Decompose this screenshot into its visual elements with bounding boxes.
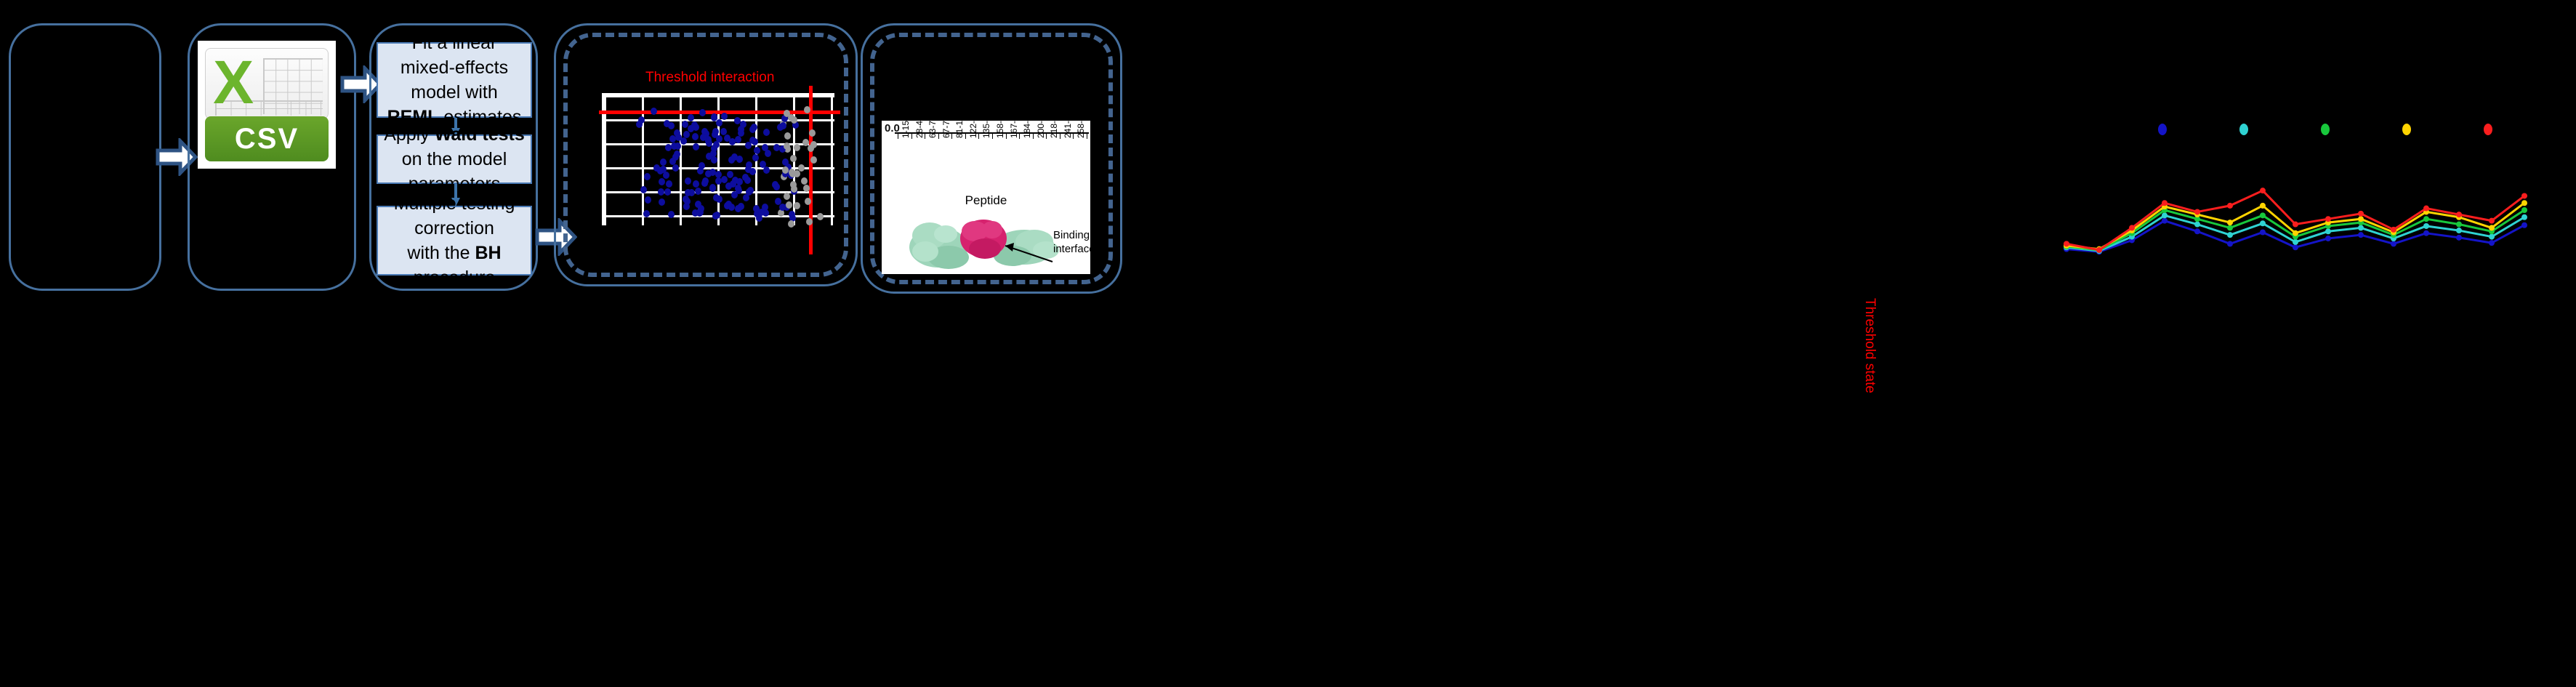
peptide-axis-tick <box>951 134 952 139</box>
line-series-marker <box>2521 193 2527 198</box>
legend-marker <box>2158 124 2167 135</box>
peptide-axis-tick <box>1073 134 1074 139</box>
line-series-marker <box>2358 232 2364 238</box>
peptide-tick-label: 241-257 <box>1063 121 1073 138</box>
binding-interface-line1: Binding <box>1053 229 1090 241</box>
line-series-marker <box>2227 220 2233 225</box>
line-series-marker <box>2489 240 2495 246</box>
peptide-axis-tick <box>911 134 912 139</box>
peptide-tick-label: 184-199 <box>1022 121 1032 138</box>
peptide-tick-label: 258-266 <box>1076 121 1086 138</box>
volcano-point <box>738 203 744 210</box>
legend-marker <box>2321 124 2330 135</box>
legend-marker <box>2402 124 2411 135</box>
volcano-point <box>753 205 760 212</box>
line-series-marker <box>2325 236 2331 241</box>
volcano-point <box>794 202 800 209</box>
volcano-point <box>711 145 717 152</box>
line-series-marker <box>2489 234 2495 240</box>
volcano-point <box>745 166 752 173</box>
line-series-marker <box>2423 216 2429 222</box>
line-series-marker <box>2358 216 2364 222</box>
peptide-tick-label: 63-73 <box>927 121 938 138</box>
line-series-marker <box>2194 228 2200 234</box>
volcano-point <box>817 213 824 220</box>
peptide-axis-tick <box>1006 134 1007 139</box>
binding-interface-line2: interface <box>1053 243 1090 255</box>
peptide-tick-label: 81-101 <box>954 121 965 138</box>
line-series-marker <box>2423 230 2429 236</box>
peptide-tick-label: 122-129 <box>968 121 978 138</box>
peptide-axis-tick <box>925 134 925 139</box>
volcano-point <box>746 188 752 196</box>
line-series-marker <box>2194 222 2200 228</box>
line-series-marker <box>2260 230 2266 236</box>
volcano-point <box>752 154 759 161</box>
step-1-text: Fit a linear mixed-effects model with RE… <box>384 31 525 129</box>
volcano-point <box>780 122 786 129</box>
volcano-point <box>666 180 672 188</box>
volcano-point <box>709 184 716 191</box>
line-series-marker <box>2423 206 2429 212</box>
protein-chain-left <box>909 222 969 269</box>
line-series-marker <box>2325 228 2331 234</box>
line-series-marker <box>2325 216 2331 222</box>
legend-marker <box>2239 124 2248 135</box>
protein-complex-surface-image <box>903 206 1062 273</box>
volcano-point <box>695 188 701 195</box>
peptide-axis-title: Peptide <box>882 193 1090 208</box>
volcano-point <box>805 198 811 205</box>
volcano-point <box>772 181 778 188</box>
peptide-axis-tick <box>1060 134 1060 139</box>
volcano-point <box>788 220 794 228</box>
line-series-marker <box>2162 212 2168 218</box>
line-series-marker <box>2260 220 2266 226</box>
line-series-marker <box>2456 228 2462 233</box>
line-series-marker <box>2521 214 2527 220</box>
volcano-point <box>801 177 808 185</box>
line-series-marker <box>2129 225 2135 230</box>
volcano-point <box>720 128 727 135</box>
peptide-tick-label: 277-284 <box>1090 121 1090 138</box>
volcano-point <box>744 177 751 184</box>
csv-file-icon: X CSV <box>198 41 336 169</box>
excel-x-glyph: X <box>213 52 254 113</box>
volcano-point <box>659 198 665 206</box>
volcano-point <box>790 181 797 188</box>
volcano-point <box>712 128 719 135</box>
peptide-figure-panel: 0.0 1-1528-4463-7367-7581-101122-129135-… <box>882 121 1090 274</box>
line-series-marker <box>2521 222 2527 228</box>
input-stage-panel <box>9 23 161 291</box>
line-series-marker <box>2064 241 2069 246</box>
line-series-marker <box>2456 212 2462 217</box>
peptide-axis-tick <box>965 134 966 139</box>
volcano-point <box>740 121 746 128</box>
peptide-axis-tick <box>898 134 898 139</box>
volcano-point <box>735 136 741 143</box>
volcano-point <box>784 142 790 150</box>
volcano-point <box>657 167 664 174</box>
line-series-marker <box>2260 188 2266 193</box>
threshold-state-label: Threshold state <box>1861 298 1877 393</box>
line-series-marker <box>2358 211 2364 217</box>
line-series-marker <box>2521 200 2527 206</box>
volcano-point <box>668 122 675 129</box>
volcano-point <box>701 128 708 135</box>
volcano-point <box>762 204 768 211</box>
peptide-tick-label: 158-166 <box>995 121 1005 138</box>
line-series-marker <box>2293 239 2298 245</box>
step-box-fit-model: Fit a linear mixed-effects model with RE… <box>377 42 532 118</box>
line-series-marker <box>2096 247 2102 253</box>
volcano-point <box>779 204 786 211</box>
volcano-point <box>798 164 805 172</box>
legend-marker <box>2484 124 2492 135</box>
line-series-marker <box>2293 230 2298 236</box>
line-series-marker <box>2456 222 2462 228</box>
volcano-point <box>685 177 691 185</box>
line-series-marker <box>2194 209 2200 214</box>
line-series-marker <box>2227 241 2233 246</box>
line-series-marker <box>2358 225 2364 230</box>
peptide-axis-tick <box>1087 134 1087 139</box>
peptide-axis-tick <box>1046 134 1047 139</box>
peptide-tick-label: 1-15 <box>901 121 911 138</box>
csv-format-label: CSV <box>205 116 329 161</box>
peptide-axis-tick <box>1033 134 1034 139</box>
volcano-point <box>749 137 756 144</box>
line-series-marker <box>2423 223 2429 229</box>
binding-interface-annotation: Binding interface <box>1053 228 1090 256</box>
volcano-point <box>696 209 703 216</box>
peptide-axis-tick <box>1019 134 1020 139</box>
volcano-point <box>671 142 677 150</box>
peptide-reactivity-line-chart <box>1972 49 2546 268</box>
line-series-marker <box>2260 212 2266 218</box>
line-series-marker <box>2162 218 2168 224</box>
line-series-marker <box>2227 232 2233 238</box>
peptide-tick-label: 67-75 <box>941 121 951 138</box>
volcano-point <box>711 156 717 164</box>
line-series-marker <box>2227 203 2233 209</box>
peptide-axis-tick <box>978 134 979 139</box>
line-series-marker <box>2391 241 2396 246</box>
line-series-marker <box>2391 227 2396 233</box>
line-series-marker <box>2293 222 2298 228</box>
peptide-axis-tick <box>938 134 939 139</box>
line-series-marker <box>2456 235 2462 241</box>
line-series-marker <box>2489 218 2495 224</box>
step-3-text: Multiple testing correctionwith the BH p… <box>384 191 525 290</box>
step-box-wald-tests: Apply Wald tests on the model parameters <box>377 134 532 184</box>
volcano-point <box>794 144 800 151</box>
volcano-point <box>715 171 722 178</box>
peptide-tick-label: 28-44 <box>914 121 925 138</box>
line-series-marker <box>2489 225 2495 230</box>
volcano-point <box>721 113 728 120</box>
threshold-interaction-label: Threshold interaction <box>645 70 774 86</box>
volcano-point <box>734 117 741 124</box>
volcano-point <box>716 196 723 203</box>
peptide-tick-label: 218-237 <box>1049 121 1059 138</box>
line-series-marker <box>2521 207 2527 213</box>
line-series-marker <box>2162 200 2168 206</box>
volcano-point <box>735 185 741 192</box>
peptide-tick-label: 135-144 <box>981 121 991 138</box>
peptide-tick-label: 200-214 <box>1036 121 1046 138</box>
volcano-scatter-plot <box>602 93 834 225</box>
volcano-point <box>782 158 789 166</box>
peptide-axis-tick <box>992 134 993 139</box>
line-series-marker <box>2227 225 2233 230</box>
line-series-marker <box>2293 244 2298 250</box>
volcano-point <box>645 196 651 204</box>
csv-spreadsheet-graphic: X <box>205 48 329 119</box>
volcano-point <box>784 132 791 140</box>
step-box-bh-correction: Multiple testing correctionwith the BH p… <box>377 206 532 276</box>
peptide-tick-label: 167-180 <box>1009 121 1019 138</box>
volcano-point <box>688 114 694 121</box>
line-series-marker <box>2260 203 2266 209</box>
volcano-point <box>754 147 760 154</box>
volcano-point <box>789 169 795 176</box>
volcano-point <box>660 158 667 166</box>
